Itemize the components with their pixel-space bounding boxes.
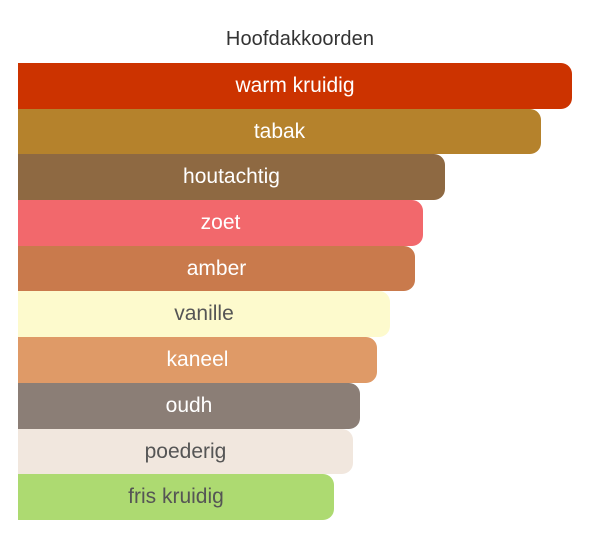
bar-row[interactable]: fris kruidig: [18, 474, 582, 520]
bar-row[interactable]: houtachtig: [18, 154, 582, 200]
bar-row[interactable]: poederig: [18, 429, 582, 475]
bar-segment[interactable]: [18, 154, 445, 200]
bar-segment[interactable]: [18, 474, 334, 520]
chart-plot-area: warm kruidigtabakhoutachtigzoetambervani…: [18, 63, 582, 520]
bar-row[interactable]: oudh: [18, 383, 582, 429]
chart-title: Hoofdakkoorden: [0, 26, 600, 52]
bar-segment[interactable]: [18, 291, 390, 337]
bar-row[interactable]: warm kruidig: [18, 63, 582, 109]
bar-segment[interactable]: [18, 246, 415, 292]
horizontal-bar-chart: Hoofdakkoorden warm kruidigtabakhoutacht…: [0, 0, 600, 555]
bar-row[interactable]: tabak: [18, 109, 582, 155]
bar-segment[interactable]: [18, 63, 572, 109]
bar-row[interactable]: kaneel: [18, 337, 582, 383]
bar-segment[interactable]: [18, 337, 377, 383]
bar-row[interactable]: vanille: [18, 291, 582, 337]
bar-segment[interactable]: [18, 383, 360, 429]
bar-segment[interactable]: [18, 429, 353, 475]
bar-row[interactable]: zoet: [18, 200, 582, 246]
bar-row[interactable]: amber: [18, 246, 582, 292]
bar-segment[interactable]: [18, 109, 541, 155]
bar-segment[interactable]: [18, 200, 423, 246]
